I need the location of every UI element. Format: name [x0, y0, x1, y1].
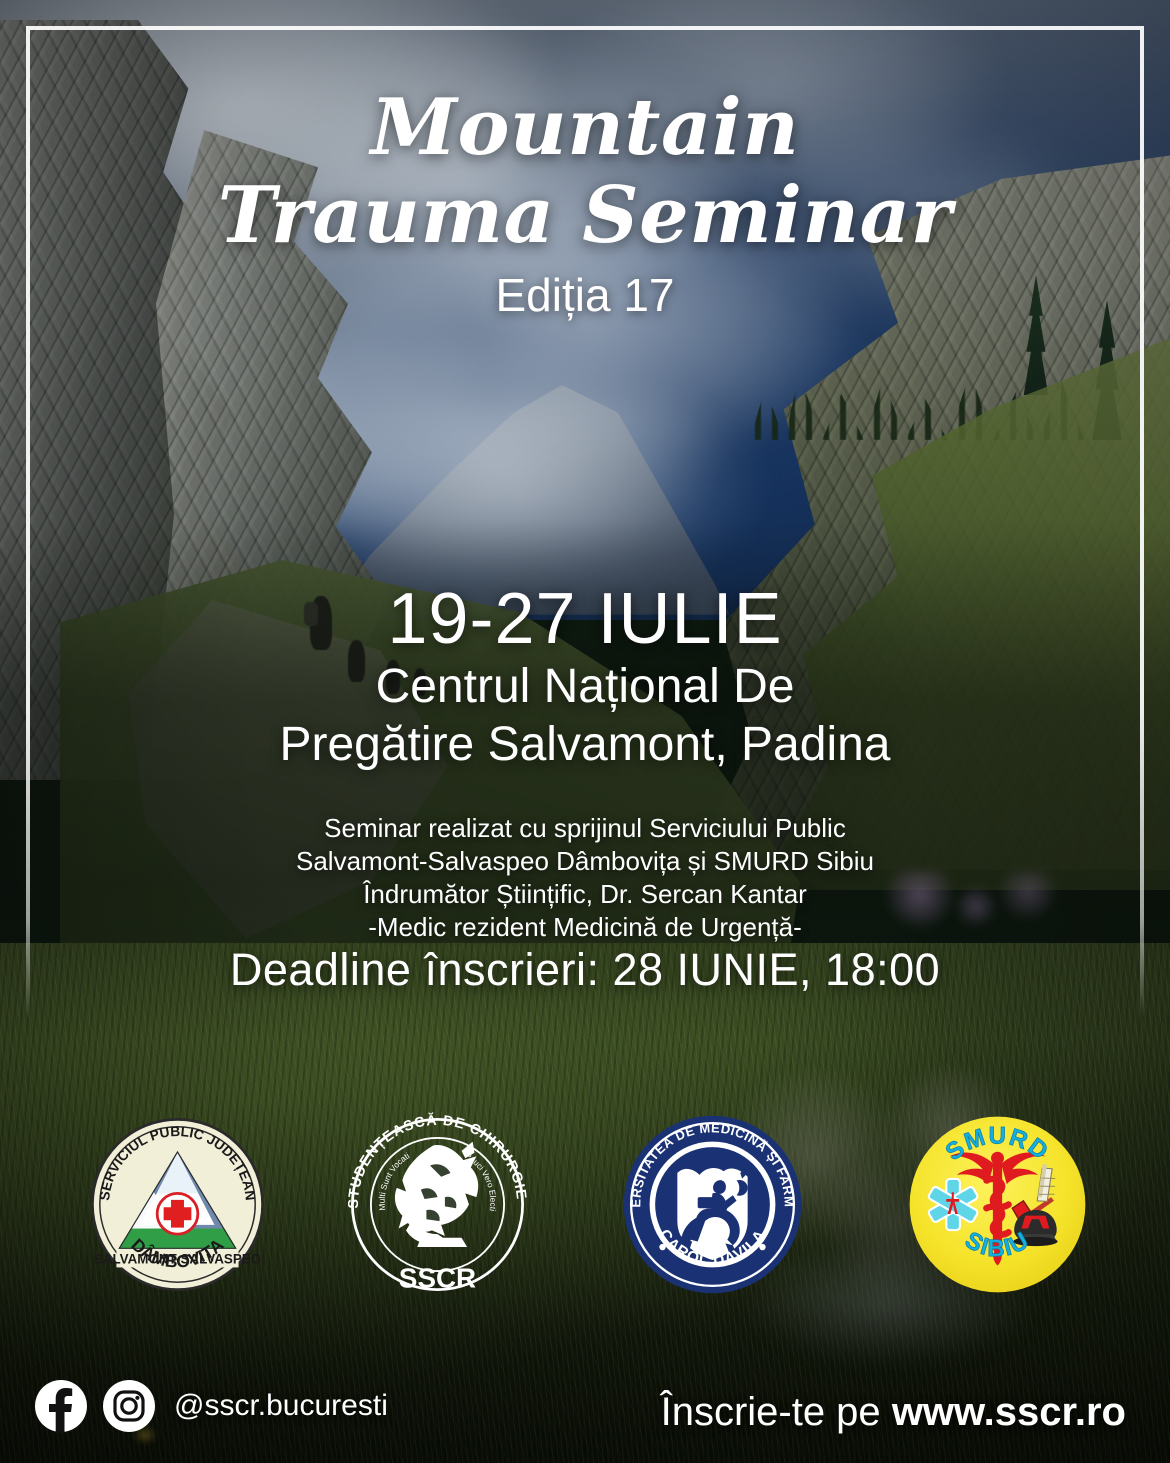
sscr-logo-icon: SOCIETATEA STUDENȚEASCĂ DE CHIRURGIE DIN… — [345, 1112, 530, 1297]
logo-salvamont-salvaspeo-dambovita: SALVAMONT-SALVASPEO SERVICIUL PUBLIC JUD… — [85, 1112, 270, 1297]
signup-lead: Înscrie-te pe — [661, 1390, 881, 1434]
signup-url[interactable]: www.sscr.ro — [892, 1390, 1126, 1434]
support-line-3: Îndrumător Științific, Dr. Sercan Kantar — [0, 878, 1170, 911]
logo-sscr: SOCIETATEA STUDENȚEASCĂ DE CHIRURGIE DIN… — [345, 1112, 530, 1297]
venue-line-1: Centrul Național De — [0, 658, 1170, 716]
umf-logo-icon: UNIVERSITATEA DE MEDICINĂ ȘI FARMACIE CA… — [620, 1112, 805, 1297]
partner-logos: SALVAMONT-SALVASPEO SERVICIUL PUBLIC JUD… — [0, 1112, 1170, 1312]
salvamont-logo-icon: SALVAMONT-SALVASPEO SERVICIUL PUBLIC JUD… — [85, 1112, 270, 1297]
support-line-2: Salvamont-Salvaspeo Dâmbovița și SMURD S… — [0, 845, 1170, 878]
title-line-2: Trauma Seminar — [0, 170, 1170, 262]
support-line-1: Seminar realizat cu sprijinul Serviciulu… — [0, 812, 1170, 845]
footer: @sscr.bucuresti Înscrie-te pe www.sscr.r… — [0, 1343, 1170, 1463]
social-handle[interactable]: @sscr.bucuresti — [174, 1389, 388, 1423]
logo-smurd-sibiu: SMURD SIBIU — [905, 1112, 1090, 1297]
event-block: 19-27 IULIE Centrul Național De Pregătir… — [0, 580, 1170, 774]
event-dates: 19-27 IULIE — [0, 580, 1170, 658]
smurd-logo-icon: SMURD SIBIU — [905, 1112, 1090, 1297]
social-links: @sscr.bucuresti — [34, 1379, 388, 1433]
poster: Mountain Trauma Seminar Ediția 17 19-27 … — [0, 0, 1170, 1463]
venue-line-2: Pregătire Salvamont, Padina — [0, 716, 1170, 774]
title-line-1: Mountain — [0, 86, 1170, 170]
logo-umf-carol-davila: UNIVERSITATEA DE MEDICINĂ ȘI FARMACIE CA… — [620, 1112, 805, 1297]
facebook-icon[interactable] — [34, 1379, 88, 1433]
support-line-4: -Medic rezident Medicină de Urgență- — [0, 911, 1170, 944]
support-block: Seminar realizat cu sprijinul Serviciulu… — [0, 812, 1170, 944]
title-block: Mountain Trauma Seminar Ediția 17 — [0, 86, 1170, 322]
instagram-icon[interactable] — [102, 1379, 156, 1433]
poster-content: Mountain Trauma Seminar Ediția 17 19-27 … — [0, 0, 1170, 1463]
sscr-acronym: SSCR — [399, 1263, 476, 1294]
registration-deadline: Deadline înscrieri: 28 IUNIE, 18:00 — [0, 944, 1170, 996]
signup-callout[interactable]: Înscrie-te pe www.sscr.ro — [661, 1390, 1126, 1435]
edition-label: Ediția 17 — [0, 268, 1170, 322]
